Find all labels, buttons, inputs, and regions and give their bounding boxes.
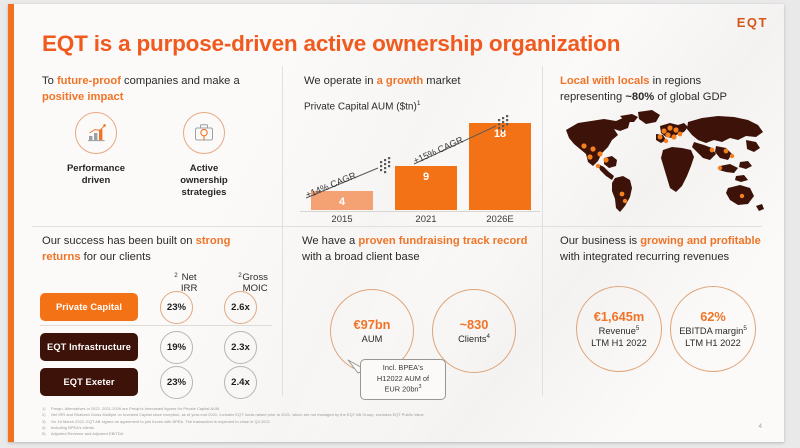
metric-circle-ebitda: 62% EBITDA margin5 LTM H1 2022 [670, 286, 756, 372]
local-head-l2-bold: ~80% [625, 91, 654, 103]
slide: EQT EQT is a purpose-driven active owner… [8, 4, 784, 442]
footnotes: 1)Preqin, Alternatives in 2022. 2021-202… [42, 406, 662, 438]
panel-purpose-heading: To future-proof companies and make a pos… [42, 74, 264, 106]
panel-returns-heading: Our success has been built on strong ret… [42, 234, 266, 266]
local-head-l2-pre: representing [560, 91, 625, 103]
chart-bar-value-2015: 4 [311, 196, 373, 208]
table-row[interactable]: EQT Exeter 23% 2.4x [40, 365, 272, 400]
table-row[interactable]: EQT Infrastructure 19% 2.3x [40, 330, 272, 365]
chart-bar-value-2026e: 18 [469, 128, 531, 140]
callout-line-1: Incl. BPEA's [366, 363, 440, 374]
returns-row-badge-eqt-exeter[interactable]: EQT Exeter [40, 368, 138, 396]
panel-local-heading: Local with locals in regions representin… [560, 74, 775, 106]
business-head-highlight: growing and profitable [640, 235, 761, 247]
page-number: 4 [759, 423, 762, 430]
metric-sub-ebitda: LTM H1 2022 [685, 337, 741, 349]
chart-x-tick-labels: 2015 2021 2026E [300, 214, 540, 228]
business-head-post: with integrated recurring revenues [560, 251, 729, 263]
returns-row-badge-eqt-infrastructure[interactable]: EQT Infrastructure [40, 333, 138, 361]
purpose-icons: Performance driven Active ownership stra… [42, 112, 272, 199]
chart-bar-2021: 9 [395, 166, 457, 210]
column-divider-2 [542, 66, 543, 396]
metric-label-ebitda: EBITDA margin5 [679, 325, 747, 337]
slide-title: EQT is a purpose-driven active ownership… [42, 31, 620, 57]
returns-net-irr-private-capital: 23% [160, 291, 193, 324]
callout-line-2: H12022 AUM of [366, 374, 440, 385]
returns-gross-moic-private-capital: 2.6x [224, 291, 257, 324]
chart-bar-2026e: 18 [469, 123, 531, 210]
purpose-head-pre: To [42, 75, 57, 87]
metric-label-clients: Clients4 [458, 333, 490, 345]
chart-x-tick-2026e: 2026E [470, 214, 530, 225]
local-head-mid: in regions [650, 75, 702, 87]
briefcase-search-icon [183, 112, 225, 154]
market-head-highlight: a growth [377, 75, 424, 87]
fundraising-head-post: with a broad client base [302, 251, 420, 263]
returns-head-post: for our clients [81, 251, 151, 263]
metric-label-aum: AUM [362, 333, 383, 345]
chart-x-tick-2021: 2021 [396, 214, 456, 225]
bar-chart: 4 9 18 +14% CAGR +15% CAGR [304, 112, 536, 210]
slide-title-text: EQT is a purpose-driven active ownership… [42, 31, 620, 56]
metric-value-ebitda: 62% [700, 309, 726, 325]
column-divider-1 [282, 66, 283, 396]
returns-head-pre: Our success has been built on [42, 235, 196, 247]
purpose-icon-label-performance-l2: driven [42, 175, 150, 187]
panel-market-heading: We operate in a growth market [304, 74, 534, 90]
market-head-post: market [423, 75, 460, 87]
purpose-icon-label-active-l1: Active [150, 163, 258, 175]
local-head-l2-post: of global GDP [654, 91, 727, 103]
chart-bar-value-2021: 9 [395, 171, 457, 183]
purpose-icon-label-active-ownership: Active ownership strategies [150, 163, 258, 199]
chart-annotation-cagr-2: +15% CAGR [412, 135, 465, 166]
purpose-icon-label-performance: Performance driven [42, 163, 150, 187]
chart-x-tick-2015: 2015 [312, 214, 372, 225]
purpose-head-mid: companies and make a [121, 75, 240, 87]
fundraising-head-pre: We have a [302, 235, 358, 247]
business-head-pre: Our business is [560, 235, 640, 247]
returns-table-separator [40, 325, 272, 326]
metric-label-revenue: Revenue5 [599, 325, 640, 337]
chart-title-sup: 1 [417, 100, 421, 107]
eqt-logo: EQT [737, 15, 768, 30]
metric-value-aum: €97bn [354, 317, 391, 333]
metric-sub-revenue: LTM H1 2022 [591, 337, 647, 349]
market-head-pre: We operate in [304, 75, 377, 87]
purpose-head-highlight-2: positive impact [42, 91, 123, 103]
purpose-icon-item-active-ownership: Active ownership strategies [150, 112, 258, 199]
table-row[interactable]: Private Capital 23% 2.6x [40, 290, 272, 325]
callout-line-3: EUR 20bn3 [366, 384, 440, 395]
returns-row-badge-private-capital[interactable]: Private Capital [40, 293, 138, 321]
chart-axis-title: Private Capital AUM ($tn)1 [304, 100, 420, 112]
callout-bpea-aum: Incl. BPEA's H12022 AUM of EUR 20bn3 [360, 359, 446, 400]
fundraising-head-highlight: proven fundraising track record [358, 235, 527, 247]
purpose-head-highlight-1: future-proof [57, 75, 121, 87]
returns-col-header-net-irr: Net IRR2 [148, 272, 204, 284]
metric-circle-revenue: €1,645m Revenue5 LTM H1 2022 [576, 286, 662, 372]
purpose-icon-item-performance: Performance driven [42, 112, 150, 199]
metric-value-clients: ~830 [460, 317, 489, 333]
world-map [560, 104, 772, 216]
purpose-icon-label-performance-l1: Performance [42, 163, 150, 175]
purpose-icon-label-active-l2: ownership [150, 175, 258, 187]
returns-gross-moic-eqt-infrastructure: 2.3x [224, 331, 257, 364]
returns-col-header-gross-moic: Gross MOIC2 [208, 272, 272, 284]
panel-fundraising-heading: We have a proven fundraising track recor… [302, 234, 534, 266]
returns-net-irr-eqt-infrastructure: 19% [160, 331, 193, 364]
returns-table-header: Net IRR2 Gross MOIC2 [40, 272, 272, 290]
returns-gross-moic-eqt-exeter: 2.4x [224, 366, 257, 399]
bar-chart-growth-icon [75, 112, 117, 154]
panel-business-heading: Our business is growing and profitable w… [560, 234, 776, 266]
purpose-icon-label-active-l3: strategies [150, 187, 258, 199]
returns-net-irr-eqt-exeter: 23% [160, 366, 193, 399]
returns-table: Net IRR2 Gross MOIC2 Private Capital 23%… [40, 272, 272, 400]
local-head-highlight: Local with locals [560, 75, 650, 87]
chart-x-axis [300, 211, 540, 212]
chart-title-text: Private Capital AUM ($tn) [304, 101, 417, 112]
metric-value-revenue: €1,645m [594, 309, 645, 325]
footnote-item: 5)Adjusted Revenue and Adjusted EBITDA [42, 431, 662, 437]
